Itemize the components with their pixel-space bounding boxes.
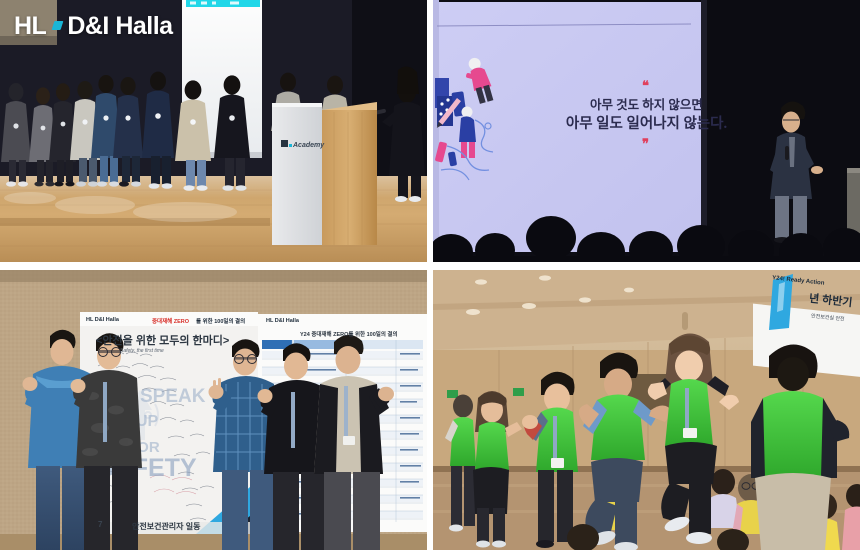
- panel-safety-pledge-board-photo: SPEAK UP FOR SAFETY: [0, 270, 427, 550]
- poster-left-subtitle: Safety, the first time: [120, 348, 164, 354]
- poster-left-banner-red: 중대재해 ZERO: [152, 317, 189, 325]
- quote-line-2: 아무 일도 일어나지 않는다.: [433, 112, 860, 133]
- poster-left-footer: 안전보건관리자 일동: [132, 521, 200, 532]
- logo-name-text: D&I Halla: [67, 12, 172, 41]
- quote-open-mark: ❝: [433, 78, 860, 94]
- poster-left-logo: HL D&I Halla: [86, 317, 119, 323]
- logo-accent-mark: [52, 21, 64, 30]
- panel-team-building-activity-photo: Y24! Ready Action 년 하반기 안전보건실 안전: [433, 270, 860, 550]
- photo-collage: Academy HL D&I Halla: [0, 0, 860, 550]
- podium-label-text: Academy: [292, 142, 325, 149]
- poster-right-logo: HL D&I Halla: [266, 318, 299, 324]
- panel-auditorium-stage-group-photo: Academy HL D&I Halla: [0, 0, 427, 262]
- slide-quote-overlay: ❝ 아무 것도 하지 않으면 아무 일도 일어나지 않는다. ❞: [433, 0, 860, 262]
- poster-left-title: <안전을 위한 모두의 한마디>: [96, 332, 229, 348]
- quote-line-1: 아무 것도 하지 않으면: [433, 94, 860, 113]
- poster-right-title: Y24 중대재해 ZERO를 위한 100일의 결의: [300, 330, 398, 338]
- poster-graphic-speak: SPEAK: [140, 386, 206, 407]
- quote-close-mark: ❞: [433, 136, 860, 152]
- logo-hl-text: HL: [14, 12, 46, 41]
- pledge-board-photo-illustration: SPEAK UP FOR SAFETY: [0, 270, 427, 550]
- poster-left-footer-number: 7: [98, 520, 102, 529]
- hl-di-halla-logo: HL D&I Halla: [14, 12, 173, 41]
- team-activity-photo-illustration: [433, 270, 860, 550]
- podium: [272, 102, 377, 245]
- poster-left-banner-rest: 를 위한 100일의 결의: [196, 317, 245, 325]
- panel-keynote-slide-projection: ❝ 아무 것도 하지 않으면 아무 일도 일어나지 않는다. ❞: [433, 0, 860, 262]
